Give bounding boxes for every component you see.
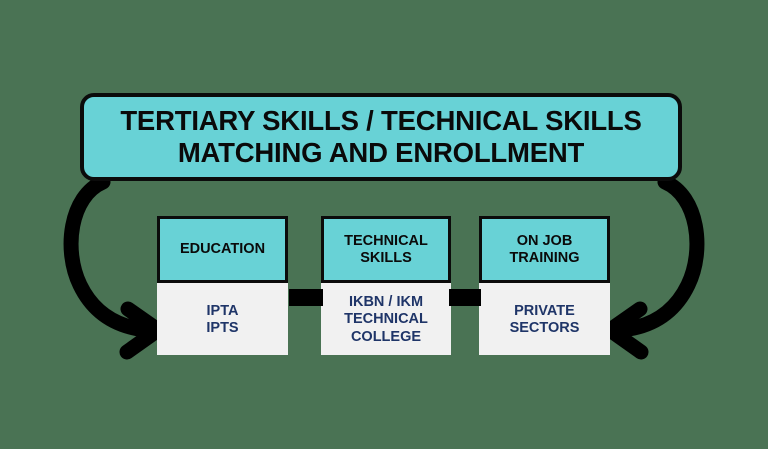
stage-education-body-label: IPTA IPTS — [206, 303, 238, 338]
left-loop-arrow — [71, 182, 158, 352]
stage-education-header-label: EDUCATION — [180, 241, 265, 258]
stage-technical-skills-body-label: IKBN / IKM TECHNICAL COLLEGE — [344, 294, 428, 346]
stage-technical-skills[interactable]: TECHNICAL SKILLS IKBN / IKM TECHNICAL CO… — [321, 216, 451, 355]
title-banner: TERTIARY SKILLS / TECHNICAL SKILLS MATCH… — [80, 93, 682, 181]
stage-technical-skills-header-label: TECHNICAL SKILLS — [344, 233, 428, 267]
page-title: TERTIARY SKILLS / TECHNICAL SKILLS MATCH… — [120, 105, 641, 169]
right-loop-arrow — [610, 182, 697, 352]
stage-technical-skills-header: TECHNICAL SKILLS — [321, 216, 451, 283]
diagram-canvas: TERTIARY SKILLS / TECHNICAL SKILLS MATCH… — [0, 0, 768, 449]
stage-technical-skills-body: IKBN / IKM TECHNICAL COLLEGE — [321, 283, 451, 355]
connector-technical-to-onjob — [449, 289, 481, 306]
stage-education-body: IPTA IPTS — [157, 283, 288, 355]
stage-education[interactable]: EDUCATION IPTA IPTS — [157, 216, 288, 355]
stage-on-job-training-header-label: ON JOB TRAINING — [509, 233, 579, 267]
connector-education-to-technical — [289, 289, 323, 306]
stage-on-job-training-body: PRIVATE SECTORS — [479, 283, 610, 355]
stage-on-job-training-header: ON JOB TRAINING — [479, 216, 610, 283]
stage-on-job-training[interactable]: ON JOB TRAINING PRIVATE SECTORS — [479, 216, 610, 355]
stage-education-header: EDUCATION — [157, 216, 288, 283]
stage-on-job-training-body-label: PRIVATE SECTORS — [510, 303, 580, 338]
